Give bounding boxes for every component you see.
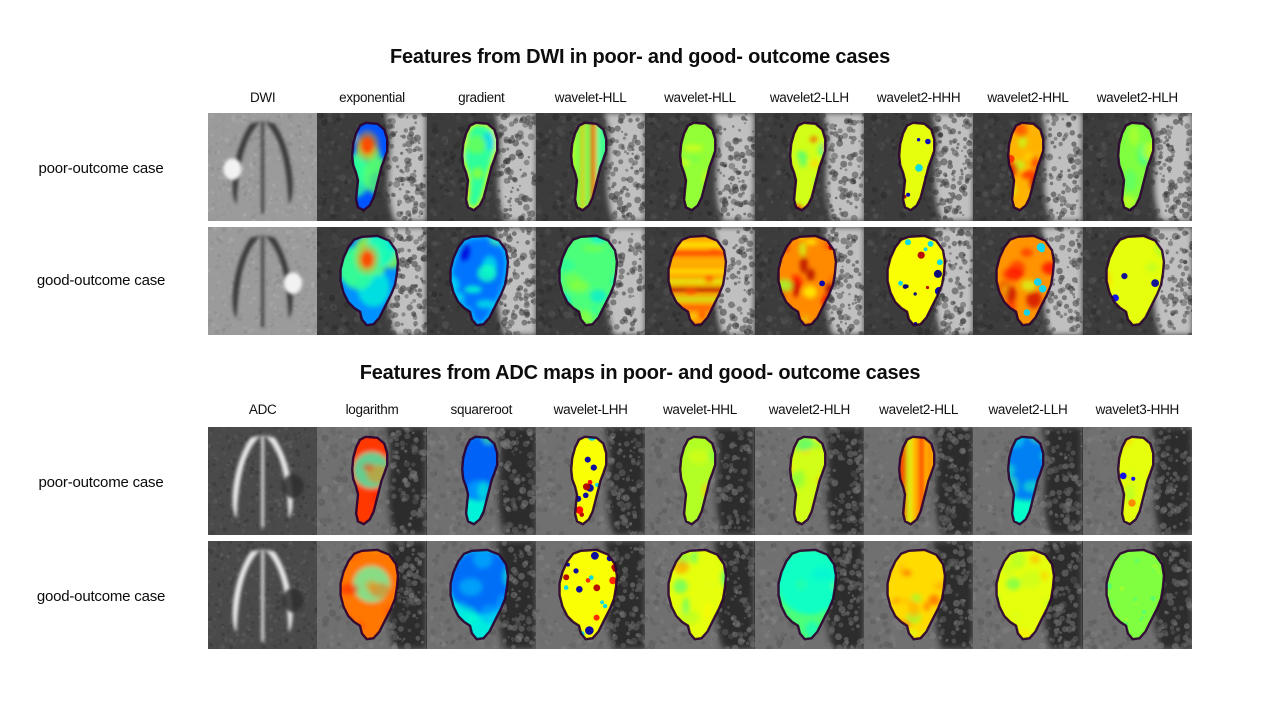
column-header-exponential: exponential [317,88,426,108]
column-header-wavelet2-hll: wavelet2-HLL [864,400,973,420]
panel-dwi-poor-wavelet2-hhl [973,113,1082,221]
feature-map-image [973,427,1082,535]
dwi-poor-outcome-panel-row [208,113,1192,221]
adc-section-title: Features from ADC maps in poor- and good… [0,362,1280,385]
column-header-wavelet2-hlh: wavelet2-HLH [755,400,864,420]
feature-map-image [1083,427,1192,535]
feature-map-image [864,227,973,335]
panel-dwi-poor-wavelet2-llh [755,113,864,221]
column-header-wavelet3-hhh: wavelet3-HHH [1083,400,1192,420]
feature-map-image [536,427,645,535]
column-header-wavelet2-hlh: wavelet2-HLH [1083,88,1192,108]
feature-map-image [755,227,864,335]
feature-map-image [427,541,536,649]
panel-adc-good-wavelet-lhh [536,541,645,649]
panel-dwi-poor-dwi [208,113,317,221]
adc-row-label-poor-outcome: poor-outcome case [0,474,202,491]
feature-map-image [317,227,426,335]
feature-map-image [755,541,864,649]
column-header-wavelet2-llh: wavelet2-LLH [755,88,864,108]
feature-map-image [317,427,426,535]
feature-map-image [645,541,754,649]
column-header-dwi: DWI [208,88,317,108]
column-header-wavelet-lhh: wavelet-LHH [536,400,645,420]
panel-dwi-good-dwi [208,227,317,335]
column-header-logarithm: logarithm [317,400,426,420]
feature-map-image [645,227,754,335]
panel-dwi-poor-wavelet-hll [645,113,754,221]
panel-adc-poor-wavelet2-llh [973,427,1082,535]
panel-dwi-good-wavelet2-hlh [1083,227,1192,335]
panel-adc-poor-wavelet3-hhh [1083,427,1192,535]
panel-dwi-good-wavelet2-hhh [864,227,973,335]
anatomical-image [208,227,317,335]
adc-good-outcome-panel-row [208,541,1192,649]
panel-dwi-good-exponential [317,227,426,335]
panel-dwi-good-wavelet-hll [645,227,754,335]
dwi-section-title: Features from DWI in poor- and good- out… [0,46,1280,69]
panel-dwi-good-wavelet2-hhl [973,227,1082,335]
feature-map-image [755,427,864,535]
feature-map-image [427,227,536,335]
panel-dwi-good-wavelet-hll [536,227,645,335]
dwi-row-label-poor-outcome: poor-outcome case [0,160,202,177]
panel-adc-good-wavelet3-hhh [1083,541,1192,649]
panel-dwi-good-wavelet2-llh [755,227,864,335]
feature-map-image [973,227,1082,335]
panel-adc-poor-adc [208,427,317,535]
feature-map-image [1083,227,1192,335]
feature-map-image [536,113,645,221]
column-header-wavelet-hll: wavelet-HLL [536,88,645,108]
panel-dwi-poor-wavelet-hll [536,113,645,221]
feature-map-image [755,113,864,221]
column-header-squareroot: squareroot [427,400,536,420]
panel-adc-good-wavelet2-hlh [755,541,864,649]
column-header-wavelet-hll: wavelet-HLL [645,88,754,108]
feature-map-image [864,113,973,221]
adc-poor-outcome-panel-row [208,427,1192,535]
feature-map-image [645,427,754,535]
radiomics-feature-figure: Features from DWI in poor- and good- out… [0,0,1280,720]
column-header-gradient: gradient [427,88,536,108]
column-header-wavelet-hhl: wavelet-HHL [645,400,754,420]
column-header-wavelet2-hhh: wavelet2-HHH [864,88,973,108]
feature-map-image [973,541,1082,649]
anatomical-image [208,427,317,535]
feature-map-image [864,541,973,649]
panel-dwi-poor-gradient [427,113,536,221]
panel-adc-good-squareroot [427,541,536,649]
dwi-row-label-good-outcome: good-outcome case [0,272,202,289]
anatomical-image [208,113,317,221]
panel-dwi-poor-exponential [317,113,426,221]
feature-map-image [317,113,426,221]
panel-adc-poor-logarithm [317,427,426,535]
feature-map-image [317,541,426,649]
dwi-column-header-row: DWIexponentialgradientwavelet-HLLwavelet… [208,88,1192,108]
panel-dwi-poor-wavelet2-hlh [1083,113,1192,221]
feature-map-image [1083,113,1192,221]
feature-map-image [427,113,536,221]
panel-adc-good-wavelet2-hll [864,541,973,649]
panel-adc-poor-wavelet2-hlh [755,427,864,535]
panel-adc-good-adc [208,541,317,649]
panel-adc-poor-wavelet2-hll [864,427,973,535]
feature-map-image [536,227,645,335]
feature-map-image [536,541,645,649]
panel-dwi-good-gradient [427,227,536,335]
adc-column-header-row: ADClogarithmsquarerootwavelet-LHHwavelet… [208,400,1192,420]
column-header-adc: ADC [208,400,317,420]
panel-adc-poor-squareroot [427,427,536,535]
column-header-wavelet2-hhl: wavelet2-HHL [973,88,1082,108]
feature-map-image [645,113,754,221]
adc-row-label-good-outcome: good-outcome case [0,588,202,605]
feature-map-image [864,427,973,535]
panel-adc-good-logarithm [317,541,426,649]
panel-adc-poor-wavelet-lhh [536,427,645,535]
panel-adc-good-wavelet-hhl [645,541,754,649]
anatomical-image [208,541,317,649]
feature-map-image [1083,541,1192,649]
panel-dwi-poor-wavelet2-hhh [864,113,973,221]
panel-adc-good-wavelet2-llh [973,541,1082,649]
dwi-good-outcome-panel-row [208,227,1192,335]
feature-map-image [427,427,536,535]
column-header-wavelet2-llh: wavelet2-LLH [973,400,1082,420]
feature-map-image [973,113,1082,221]
panel-adc-poor-wavelet-hhl [645,427,754,535]
